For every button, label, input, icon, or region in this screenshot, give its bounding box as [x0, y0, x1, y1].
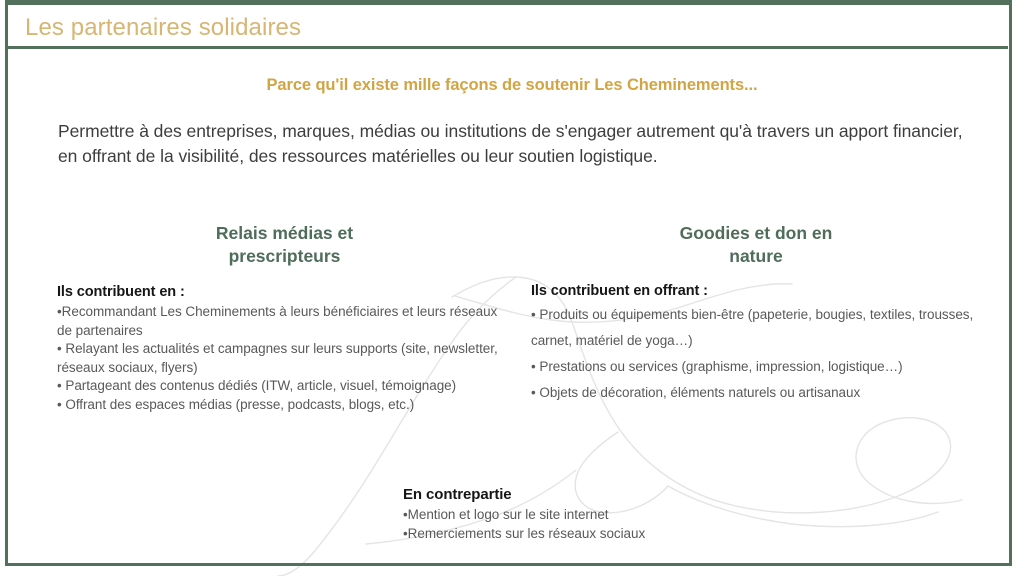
- list-item: • Produits ou équipements bien-être (pap…: [531, 302, 981, 354]
- subtitle: Parce qu'il existe mille façons de soute…: [0, 76, 1024, 95]
- column-lead: Ils contribuent en :: [57, 284, 512, 300]
- contrepartie-block: En contrepartie •Mention et logo sur le …: [403, 486, 823, 543]
- column-heading-line-1: Goodies et don en: [680, 223, 833, 243]
- column-goodies-don-nature: Goodies et don en nature Ils contribuent…: [531, 222, 981, 406]
- list-item: • Objets de décoration, éléments naturel…: [531, 380, 981, 406]
- column-bullet-list: •Recommandant Les Cheminements à leurs b…: [57, 303, 512, 414]
- column-heading-line-2: nature: [729, 246, 782, 266]
- slide: Les partenaires solidaires Parce qu'il e…: [0, 0, 1024, 576]
- list-item: • Partageant des contenus dédiés (ITW, a…: [57, 377, 512, 396]
- column-heading-line-1: Relais médias et: [216, 223, 353, 243]
- column-relais-medias: Relais médias et prescripteurs Ils contr…: [57, 222, 512, 414]
- column-heading: Relais médias et prescripteurs: [57, 222, 512, 268]
- column-heading-line-2: prescripteurs: [229, 246, 341, 266]
- contrepartie-list: •Mention et logo sur le site internet •R…: [403, 505, 823, 543]
- list-item: •Mention et logo sur le site internet: [403, 505, 823, 524]
- list-item: •Remerciements sur les réseaux sociaux: [403, 524, 823, 543]
- list-item: • Offrant des espaces médias (presse, po…: [57, 396, 512, 415]
- column-heading: Goodies et don en nature: [531, 222, 981, 268]
- list-item: • Relayant les actualités et campagnes s…: [57, 340, 512, 377]
- list-item: • Prestations ou services (graphisme, im…: [531, 354, 981, 380]
- list-item: •Recommandant Les Cheminements à leurs b…: [57, 303, 512, 340]
- column-lead: Ils contribuent en offrant :: [531, 283, 981, 299]
- column-bullet-list: • Produits ou équipements bien-être (pap…: [531, 302, 981, 406]
- contrepartie-heading: En contrepartie: [403, 486, 823, 503]
- slide-content: Parce qu'il existe mille façons de soute…: [0, 0, 1024, 576]
- intro-paragraph: Permettre à des entreprises, marques, mé…: [58, 119, 964, 169]
